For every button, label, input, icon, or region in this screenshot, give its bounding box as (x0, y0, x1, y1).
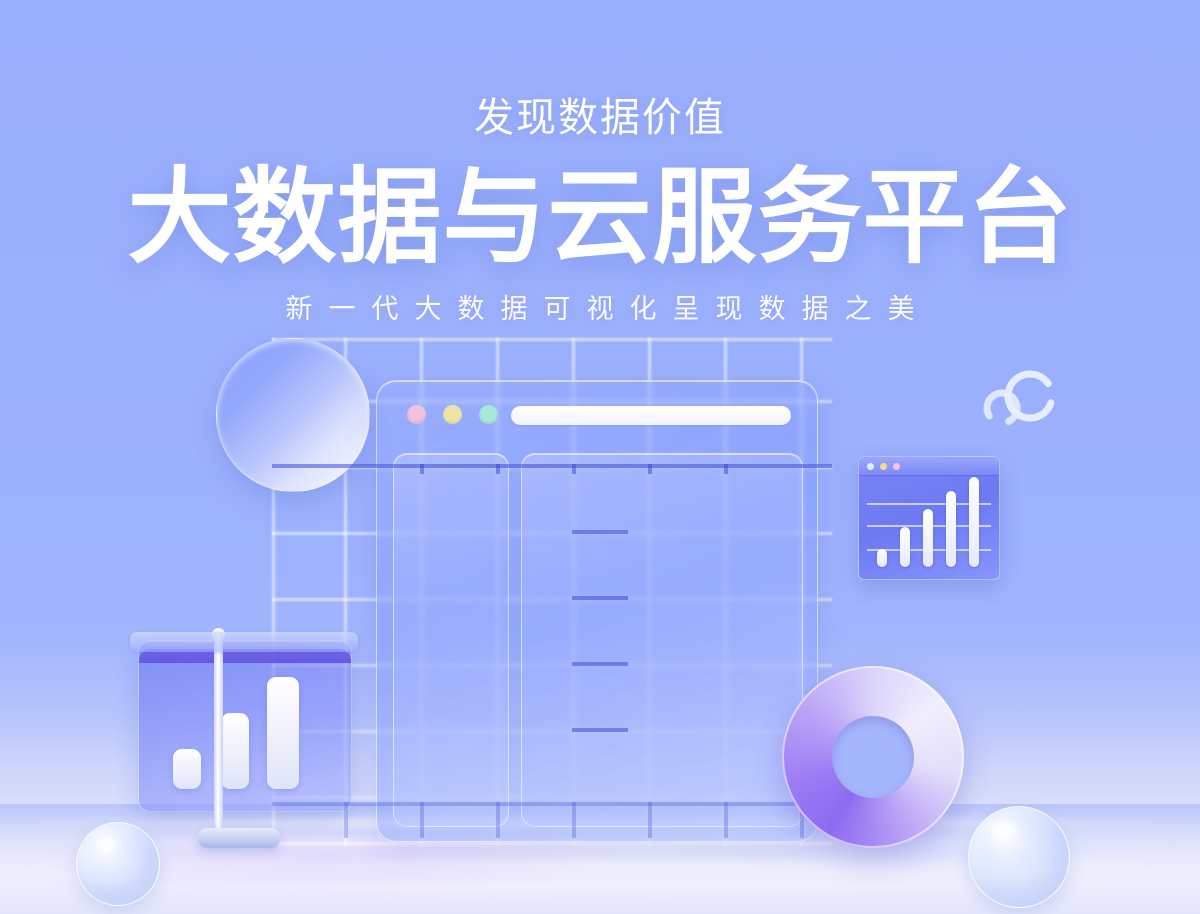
board-bar-3 (267, 677, 299, 789)
hero-banner: 发现数据价值 大数据与云服务平台 新一代大数据可视化呈现数据之美 (0, 0, 1200, 914)
mini-dot-maximize-icon[interactable] (893, 463, 900, 470)
page-title: 大数据与云服务平台 (0, 166, 1200, 270)
browser-title-bar (377, 381, 817, 443)
mini-dot-minimize-icon[interactable] (880, 463, 887, 470)
board-top-rail (130, 632, 358, 652)
glass-sphere-right (968, 806, 1070, 908)
traffic-light-close-icon[interactable] (407, 405, 426, 424)
board-bar-2 (221, 713, 249, 789)
glass-disc (216, 338, 370, 492)
monitor-stand-pole (214, 632, 223, 844)
sphere-highlight (992, 822, 1016, 837)
board-bar-1 (173, 749, 201, 789)
browser-mockup[interactable] (376, 380, 818, 842)
glass-sphere-left (76, 822, 160, 906)
mini-chart-bar (969, 477, 979, 567)
hero-tagline: 新一代大数据可视化呈现数据之美 (0, 296, 1200, 323)
hero-text-block: 发现数据价值 大数据与云服务平台 新一代大数据可视化呈现数据之美 (0, 0, 1200, 323)
monitor-stand-base (198, 828, 280, 848)
address-bar-input[interactable] (511, 406, 791, 425)
traffic-light-maximize-icon[interactable] (479, 405, 498, 424)
mini-chart-bar (900, 527, 910, 567)
mini-chart-bar (946, 491, 956, 567)
sidebar-pane[interactable] (393, 453, 509, 827)
traffic-light-minimize-icon[interactable] (443, 405, 462, 424)
donut-ring[interactable] (782, 666, 964, 848)
mini-bar-chart-window[interactable] (858, 456, 1000, 580)
cloud-icon (978, 368, 1066, 432)
hero-eyebrow: 发现数据价值 (0, 98, 1200, 138)
mini-dot-close-icon[interactable] (867, 463, 874, 470)
content-pane[interactable] (521, 453, 803, 827)
mini-chart-bar (923, 509, 933, 567)
sphere-highlight (96, 838, 116, 851)
bar-chart-board[interactable] (138, 640, 352, 812)
mini-chart-bar (877, 549, 887, 567)
mini-window-title-bar (859, 457, 999, 476)
